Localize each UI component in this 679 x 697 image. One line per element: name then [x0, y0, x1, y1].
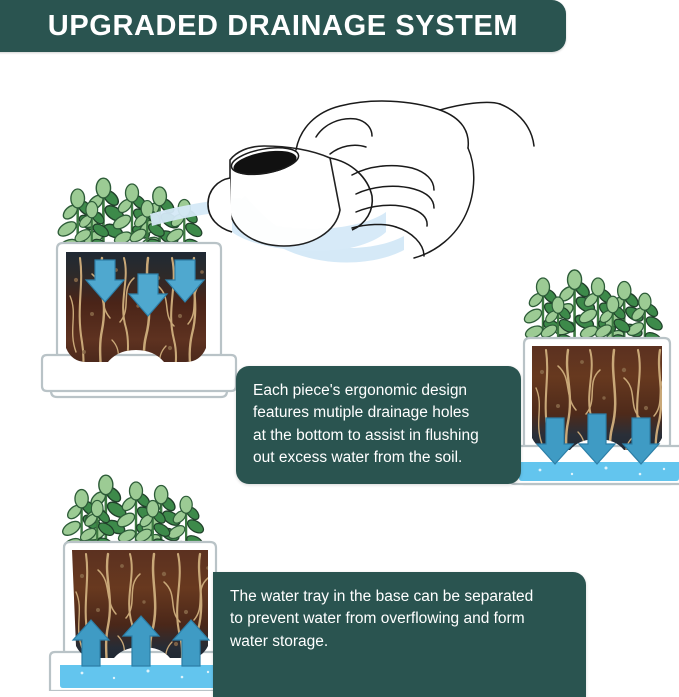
hand-pouring-watering-can [150, 101, 534, 262]
infographic-canvas: UPGRADED DRAINAGE SYSTEM Each piece's er… [0, 0, 679, 691]
water-flow-arrows-down [537, 414, 659, 464]
planter-right [510, 270, 679, 500]
callout-line: out excess water from the soil. [253, 447, 504, 469]
callout-line: water storage. [230, 631, 569, 653]
callout-line: The water tray in the base can be separa… [230, 586, 569, 608]
tray-water [519, 462, 679, 481]
planter-bottom-left [50, 475, 234, 691]
title-banner: UPGRADED DRAINAGE SYSTEM [0, 0, 566, 52]
callout-water-tray: The water tray in the base can be separa… [213, 572, 586, 697]
water-flow-arrows-up [73, 616, 209, 666]
callout-drainage-holes: Each piece's ergonomic design features m… [236, 366, 521, 484]
page-title: UPGRADED DRAINAGE SYSTEM [34, 10, 518, 43]
tray-water [60, 665, 224, 688]
callout-line: features mutiple drainage holes [253, 402, 504, 424]
callout-line: Each piece's ergonomic design [253, 380, 504, 402]
callout-line: to prevent water from overflowing and fo… [230, 608, 569, 630]
callout-line: at the bottom to assist in flushing [253, 425, 504, 447]
